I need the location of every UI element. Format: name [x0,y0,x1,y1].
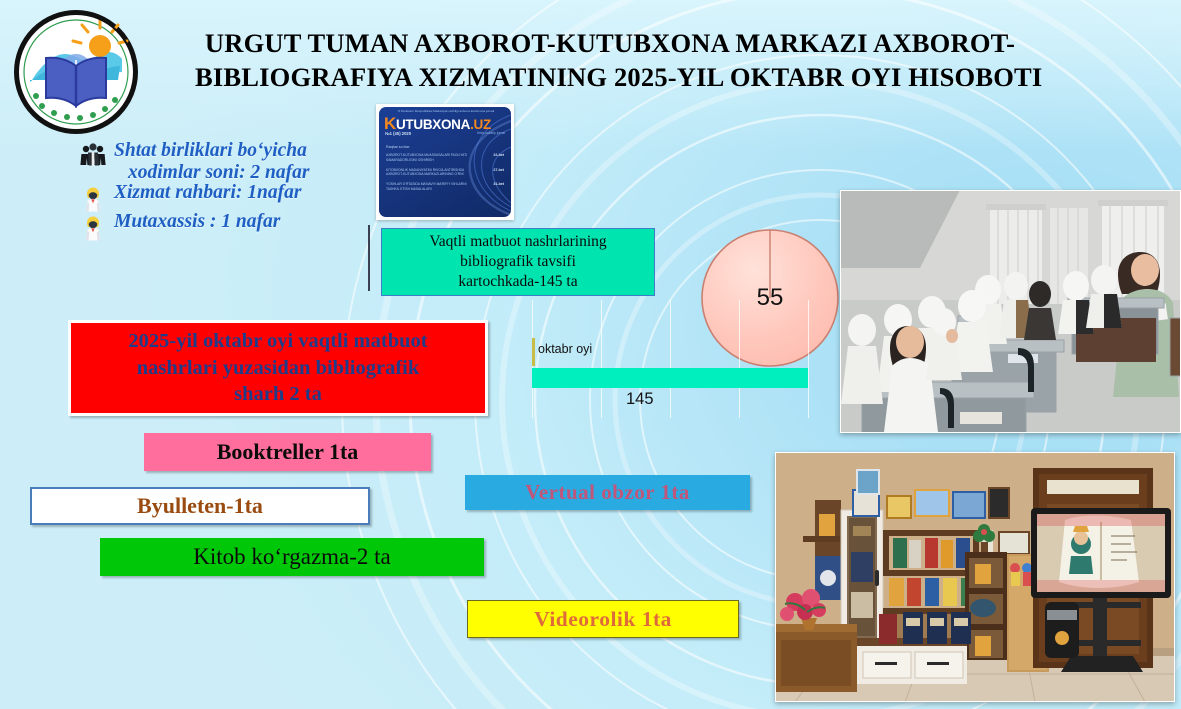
info-line-3: kartochkada-145 ta [458,273,577,290]
bar-data-label: 145 [626,390,654,409]
label-red-text: 2025-yil oktabr oyi vaqtli matbuot nashr… [128,328,427,408]
bibliographic-cards-info-box: Vaqtli matbuot nashrlarining bibliografi… [381,228,655,296]
magazine-contents-item: KITOBXONLIK MADANIYATINI RIVOJLANTIRISHD… [386,168,504,178]
magazine-cover-art: O‘zbekiston Respublikasi Madaniyat vazir… [379,107,511,217]
staff-row-total: Shtat birliklari bo‘yicha xodimlar soni:… [78,140,378,184]
slide-title: URGUT TUMAN AXBOROT-KUTUBXONA MARKAZI AX… [195,26,1025,95]
info-box-text: Vaqtli matbuot nashrlarining bibliografi… [429,232,606,292]
photo-classroom-library-lesson [840,190,1181,433]
magazine-item-page: 22-bet [493,153,504,157]
info-line-2: bibliografik tavsifi [460,253,576,270]
label-videorolik: Videorolik 1ta [467,600,739,638]
title-line-2: BIBLIOGRAFIYA XIZMATINING 2025-YIL OKTAB… [195,60,1025,94]
magazine-item-page: 27-bet [493,168,504,172]
chart-gridline [601,300,602,418]
label-red-line3: sharh 2 ta [234,383,322,405]
chart-axis-line [368,225,370,291]
magazine-contents: Raqbar so‘zlar: AXBOROT-KUTUBXONA MUASSA… [386,145,504,197]
label-vertual-obzor: Vertual obzor 1ta [465,475,750,510]
info-line-1: Vaqtli matbuot nashrlarining [429,233,606,250]
magazine-item-title: YOSHLAR O‘RTASIDA MA’NAVIY-MA’RIFIY ISHL… [386,182,471,192]
magazine-subtitle: O‘zbekiston Respublikasi Madaniyat vazir… [385,110,507,113]
bar-series-oktabr-oyi [532,368,808,388]
staff-head-text: Xizmat rahbari: 1nafar [114,182,301,204]
label-kitob-korgazma: Kitob ko‘rgazma-2 ta [100,538,484,576]
label-booktreller: Booktreller 1ta [144,433,431,471]
magazine-issue-number: №1 (45) 2020 [385,131,411,136]
staff-total-line2: xodimlar soni: 2 nafar [114,162,310,184]
chart-category-tick [532,338,535,366]
magazine-logo: KUTUBXONA.UZ [384,115,507,132]
staff-specialist-text: Mutaxassis : 1 nafar [114,211,280,233]
magazine-tagline: Ilmiy-uslubiy jurnal [477,131,505,135]
title-line-1: URGUT TUMAN AXBOROT-KUTUBXONA MARKAZI AX… [195,26,1025,60]
staff-row-head: Xizmat rahbari: 1nafar [78,182,378,214]
magazine-contents-item: YOSHLAR O‘RTASIDA MA’NAVIY-MA’RIFIY ISHL… [386,182,504,192]
person-female-icon [78,184,108,214]
chart-gridline [808,300,809,418]
magazine-contents-item: AXBOROT-KUTUBXONA MUASSASALARI FAOLIYATI… [386,153,504,163]
bar-chart: oktabr oyi 145 [530,300,830,425]
magazine-logo-main: UTUBXONA [396,117,470,132]
photo-book-exhibition-room [775,452,1175,702]
magazine-item-page: 31-bet [493,182,504,186]
person-female-icon [78,213,108,243]
chart-gridline [739,300,740,418]
staff-total-line1: Shtat birliklari bo‘yicha [114,140,307,161]
staff-total-text: Shtat birliklari bo‘yicha xodimlar soni:… [114,140,310,184]
magazine-item-title: AXBOROT-KUTUBXONA MUASSASALARI FAOLIYATI… [386,153,471,163]
magazine-item-title: KITOBXONLIK MADANIYATINI RIVOJLANTIRISHD… [386,168,471,178]
label-red-line1: 2025-yil oktabr oyi vaqtli matbuot [128,330,427,352]
label-bibliographic-review: 2025-yil oktabr oyi vaqtli matbuot nashr… [68,320,488,416]
magazine-cover-kutubxona-uz: O‘zbekiston Respublikasi Madaniyat vazir… [376,104,514,220]
label-byulleten: Byulleten-1ta [30,487,370,525]
magazine-contents-header: Raqbar so‘zlar: [386,145,504,149]
slide-canvas: URGUT TUMAN AXBOROT-KUTUBXONA MARKAZI AX… [0,0,1181,709]
staff-info-block: Shtat birliklari bo‘yicha xodimlar soni:… [78,140,378,243]
chart-gridline [670,300,671,418]
group-people-icon [78,142,108,172]
organization-emblem-icon [14,10,138,134]
magazine-logo-uz: .UZ [470,117,491,132]
label-red-line2: nashrlari yuzasidan bibliografik [137,357,420,379]
bar-category-label: oktabr oyi [538,342,592,356]
staff-row-specialist: Mutaxassis : 1 nafar [78,211,378,243]
